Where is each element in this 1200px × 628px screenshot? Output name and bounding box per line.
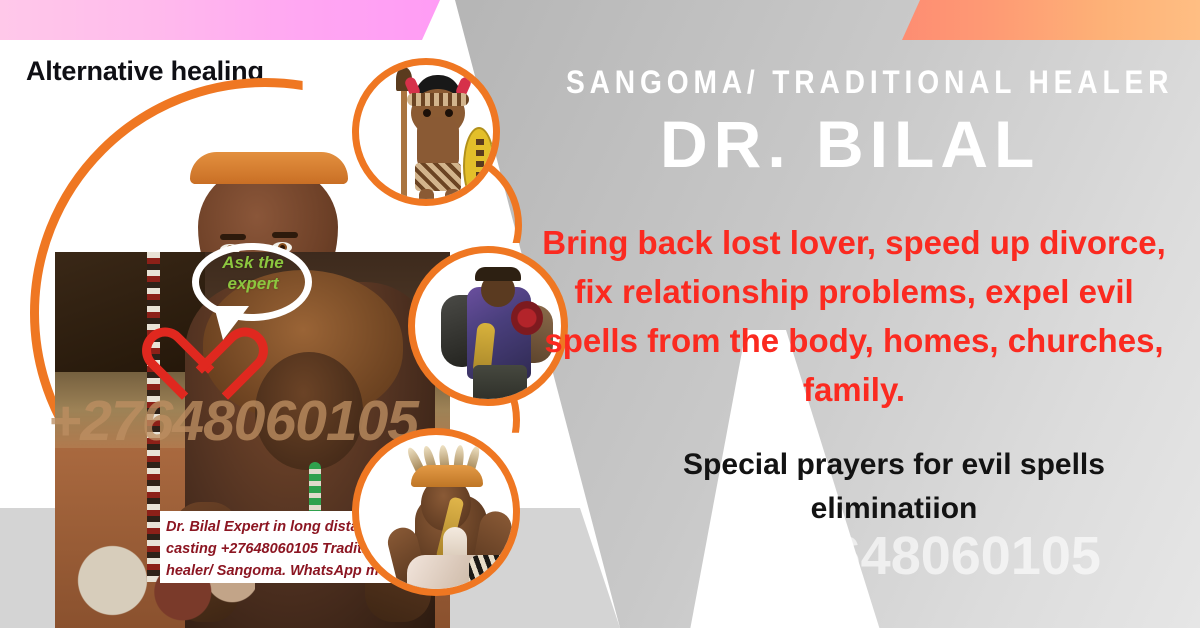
circle-zulu-warrior [352, 58, 500, 206]
traveller-foot-left [477, 401, 497, 406]
hero-brow-right [272, 232, 298, 238]
traveller-hat [475, 267, 521, 281]
circle-sangoma [352, 428, 520, 596]
page-title: DR. BILAL [660, 106, 1200, 182]
speech-bubble-tail [214, 306, 249, 340]
sangoma-crown [411, 465, 483, 487]
traveller-legs [473, 365, 527, 405]
poster-canvas: Alternative healing [0, 0, 1200, 628]
prayers-text: Special prayers for evil spells eliminat… [600, 443, 1188, 531]
warrior-body [417, 117, 459, 169]
speech-bubble-text: Ask the expert [200, 252, 306, 294]
caption-line-3: healer/ Sangoma. WhatsApp me [166, 560, 404, 582]
pink-accent-strip [0, 0, 440, 40]
warrior-eye-left [423, 109, 431, 117]
right-watermark-phone: +27648060105 [640, 525, 1200, 587]
shield-icon [463, 127, 495, 205]
spear-icon [401, 83, 407, 206]
warrior-leg-left [419, 189, 434, 206]
orange-accent-strip [880, 0, 1200, 40]
services-text: Bring back lost lover, speed up divorce,… [536, 218, 1172, 414]
kicker-title: SANGOMA/ TRADITIONAL HEALER [566, 64, 1112, 101]
hero-headdress-band [190, 152, 348, 184]
warrior-skirt [415, 163, 461, 191]
hero-brow-left [220, 234, 246, 240]
warrior-headband [407, 93, 469, 106]
warrior-eye-right [445, 109, 453, 117]
